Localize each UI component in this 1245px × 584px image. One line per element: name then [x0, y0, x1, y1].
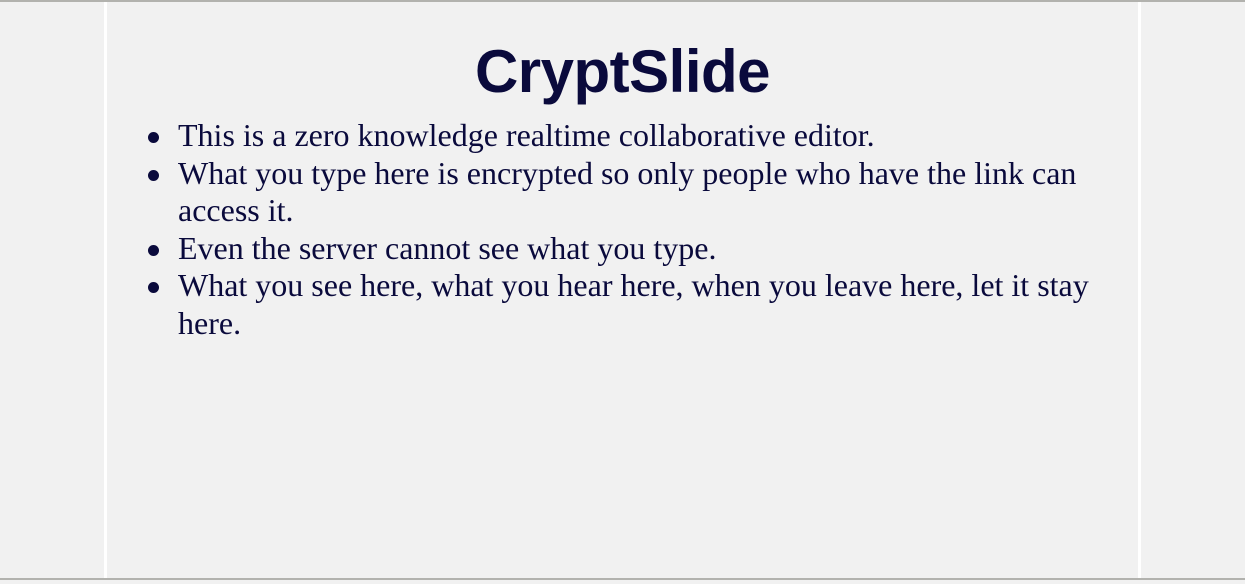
- bullet-text: What you see here, what you hear here, w…: [178, 267, 1138, 342]
- bottom-edge-rule: [0, 578, 1245, 580]
- bullet-text: What you type here is encrypted so only …: [178, 155, 1138, 230]
- left-workspace-pane: [0, 2, 104, 578]
- bullet-dot-icon: [148, 245, 159, 256]
- list-item[interactable]: What you see here, what you hear here, w…: [107, 267, 1138, 342]
- right-workspace-pane: [1141, 2, 1245, 578]
- list-item[interactable]: What you type here is encrypted so only …: [107, 155, 1138, 230]
- list-item[interactable]: This is a zero knowledge realtime collab…: [107, 117, 1138, 155]
- list-item[interactable]: Even the server cannot see what you type…: [107, 230, 1138, 268]
- slide-viewport: CryptSlide This is a zero knowledge real…: [0, 0, 1245, 584]
- bullet-dot-icon: [148, 170, 159, 181]
- bullet-text: Even the server cannot see what you type…: [178, 230, 1138, 268]
- bullet-text: This is a zero knowledge realtime collab…: [178, 117, 1138, 155]
- right-gutter-rule: [1138, 2, 1141, 578]
- bullet-list: This is a zero knowledge realtime collab…: [107, 117, 1138, 342]
- bullet-dot-icon: [148, 132, 159, 143]
- slide-body[interactable]: This is a zero knowledge realtime collab…: [107, 117, 1138, 342]
- slide-canvas[interactable]: CryptSlide This is a zero knowledge real…: [107, 2, 1138, 578]
- bullet-dot-icon: [148, 282, 159, 293]
- slide-title[interactable]: CryptSlide: [107, 40, 1138, 104]
